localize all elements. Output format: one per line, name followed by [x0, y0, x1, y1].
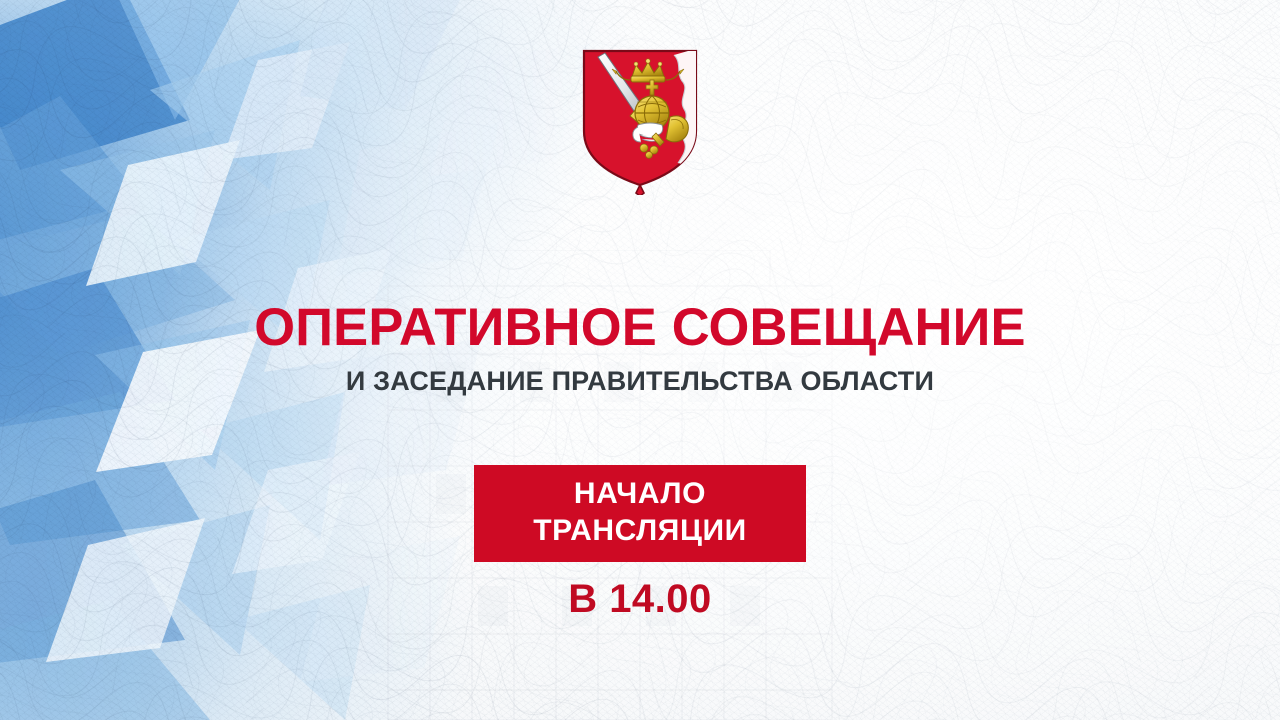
- broadcast-time: В 14.00: [0, 579, 1280, 619]
- slide-content: ОПЕРАТИВНОЕ СОВЕЩАНИЕ И ЗАСЕДАНИЕ ПРАВИТ…: [0, 300, 1280, 619]
- broadcast-start-banner: НАЧАЛО ТРАНСЛЯЦИИ: [474, 465, 806, 561]
- banner-line-1: НАЧАЛО: [474, 476, 806, 513]
- banner-line-2: ТРАНСЛЯЦИИ: [474, 513, 806, 550]
- page-title: ОПЕРАТИВНОЕ СОВЕЩАНИЕ: [6, 300, 1273, 355]
- vologda-oblast-coat-of-arms-icon: [578, 47, 702, 195]
- broadcast-announcement-slide: ОПЕРАТИВНОЕ СОВЕЩАНИЕ И ЗАСЕДАНИЕ ПРАВИТ…: [0, 0, 1280, 720]
- page-subtitle: И ЗАСЕДАНИЕ ПРАВИТЕЛЬСТВА ОБЛАСТИ: [0, 367, 1280, 395]
- broadcast-banner-wrapper: НАЧАЛО ТРАНСЛЯЦИИ: [0, 465, 1280, 561]
